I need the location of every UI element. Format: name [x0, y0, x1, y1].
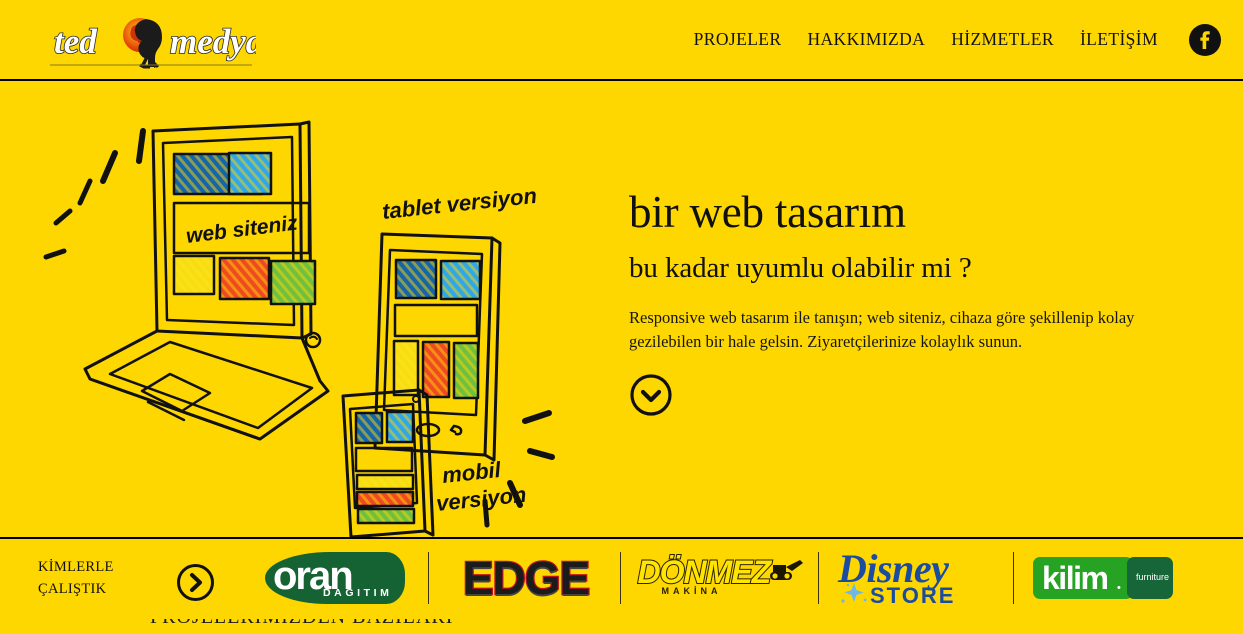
chevron-right-circle-icon[interactable] — [176, 563, 215, 602]
partners-label-line1: KİMLERLE — [38, 557, 114, 579]
donmez-subtext: MAKİNA — [662, 586, 722, 596]
hero-subheading: bu kadar uyumlu olabilir mi ? — [629, 252, 1189, 285]
nav-projeler[interactable]: PROJELER — [681, 29, 795, 50]
kilim-subtext: furniture — [1136, 572, 1169, 582]
excavator-icon — [768, 558, 808, 584]
partner-logo-disney[interactable]: Disney STORE — [828, 537, 1008, 618]
page-root: ted medya PROJELER HAKKIMIZDA HİZMETLER — [0, 0, 1243, 634]
responsive-devices-illustration: web siteniz tablet versiyon — [30, 91, 630, 537]
partners-label: KİMLERLE ÇALIŞTIK — [38, 557, 114, 601]
tablet-label: tablet versiyon — [381, 183, 538, 224]
oran-subtext: DAĞITIM — [323, 587, 393, 599]
kilim-registered-mark: • — [1117, 582, 1121, 594]
partner-logo-oran[interactable]: oran DAĞITIM — [255, 537, 425, 618]
next-section-sliver: PROJELERİMİZDEN BAZILARI — [0, 618, 1243, 634]
site-logo[interactable]: ted medya — [46, 11, 256, 71]
hero-copy: bir web tasarım bu kadar uyumlu olabilir… — [629, 189, 1189, 417]
nav-hakkimizda[interactable]: HAKKIMIZDA — [794, 29, 938, 50]
partner-divider — [1013, 552, 1014, 604]
hero-paragraph: Responsive web tasarım ile tanışın; web … — [629, 306, 1141, 353]
nav-iletisim[interactable]: İLETİŞİM — [1067, 29, 1171, 50]
partner-divider — [818, 552, 819, 604]
brain-head-icon — [123, 18, 162, 67]
svg-text:ted: ted — [54, 22, 97, 61]
hero-heading: bir web tasarım — [629, 189, 1189, 236]
partner-divider — [620, 552, 621, 604]
mobile-label-line1: mobil — [441, 457, 503, 488]
main-navigation: PROJELER HAKKIMIZDA HİZMETLER İLETİŞİM — [681, 0, 1221, 79]
edge-wordmark: EDGE — [463, 551, 589, 605]
laptop-label: web siteniz — [185, 211, 299, 248]
facebook-glyph — [1189, 24, 1221, 56]
partner-divider — [428, 552, 429, 604]
partner-logo-kilim[interactable]: kilim • furniture — [1023, 537, 1183, 618]
kilim-wordmark: kilim — [1042, 558, 1107, 598]
partner-logo-edge[interactable]: EDGE — [436, 537, 616, 618]
partners-label-line2: ÇALIŞTIK — [38, 579, 114, 601]
nav-hizmetler[interactable]: HİZMETLER — [938, 29, 1067, 50]
partner-logo-donmez[interactable]: DÖNMEZ MAKİNA — [630, 537, 815, 618]
svg-text:medya: medya — [170, 22, 256, 61]
site-header: ted medya PROJELER HAKKIMIZDA HİZMETLER — [0, 0, 1243, 81]
chevron-down-circle-icon[interactable] — [629, 373, 673, 417]
hero-section: web siteniz tablet versiyon — [0, 81, 1243, 537]
sparkle-icon — [840, 581, 874, 607]
logo-artwork: ted medya — [46, 11, 256, 71]
disney-subtext: STORE — [870, 583, 955, 609]
facebook-icon[interactable] — [1189, 24, 1221, 56]
next-section-title: PROJELERİMİZDEN BAZILARI — [150, 618, 453, 629]
